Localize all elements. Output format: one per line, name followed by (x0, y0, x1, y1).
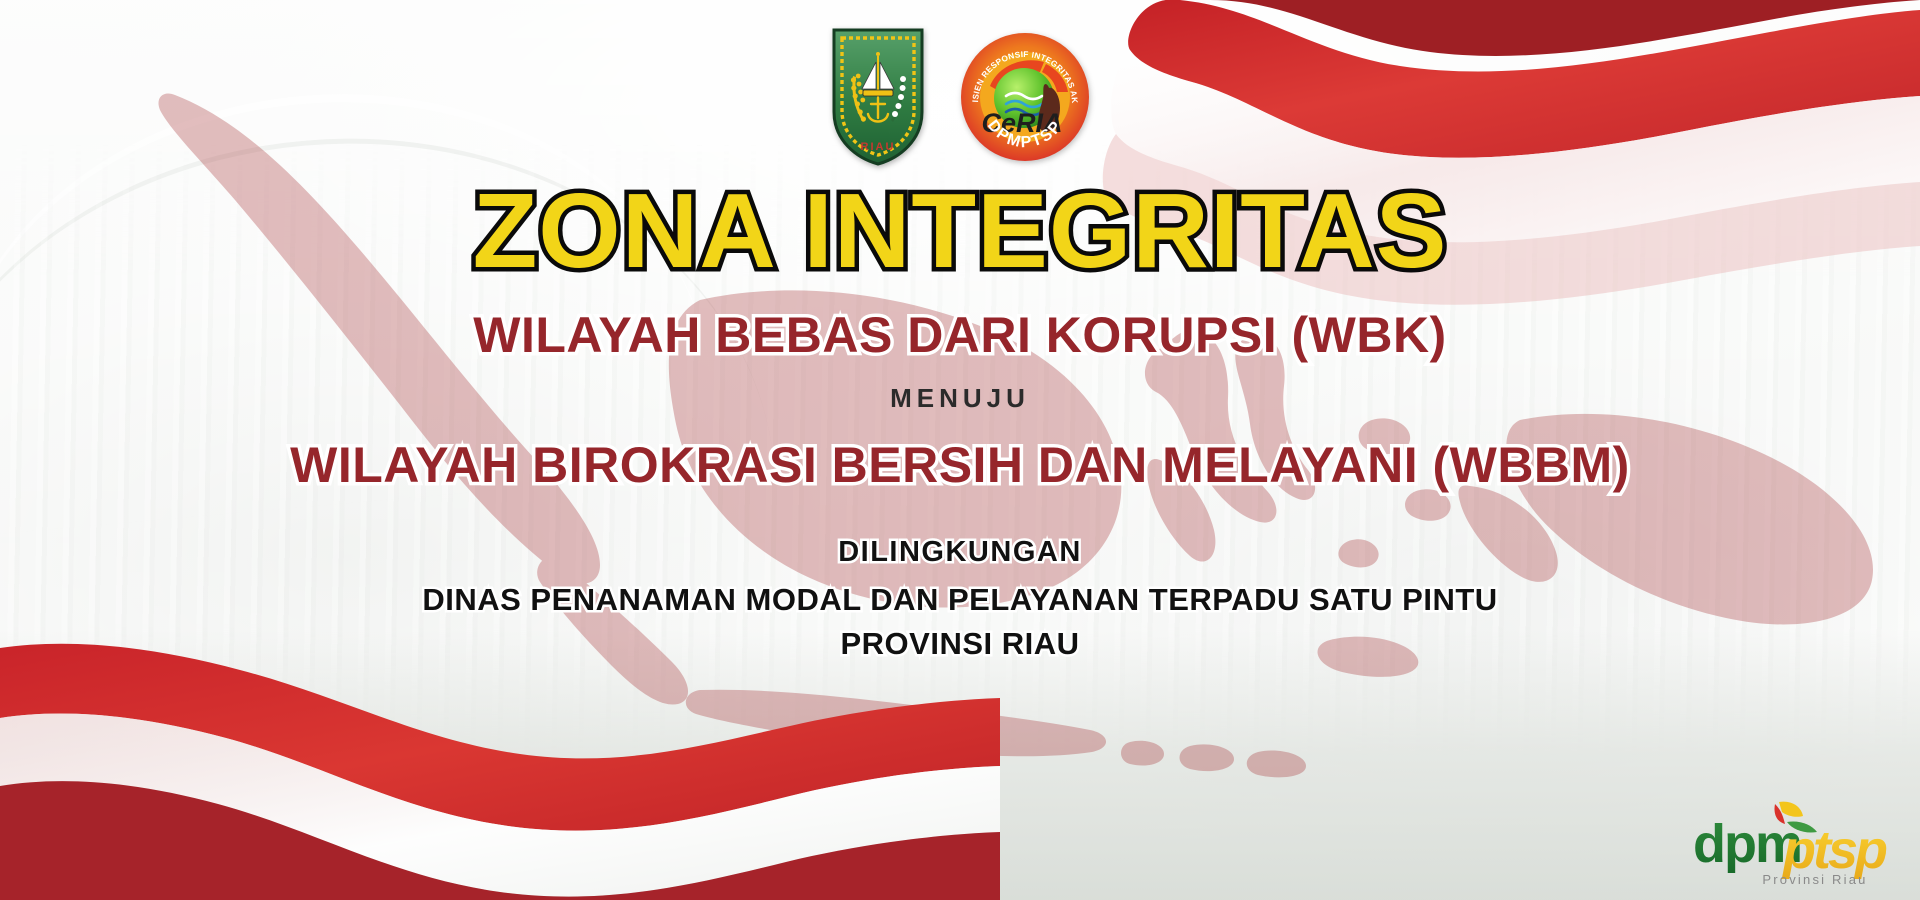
page-title: ZONA INTEGRITAS (0, 178, 1920, 284)
svg-text:Provinsi Riau: Provinsi Riau (1762, 872, 1867, 887)
organization-name-line1: DINAS PENANAMAN MODAL DAN PELAYANAN TERP… (0, 584, 1920, 615)
organization-name-line2: PROVINSI RIAU (0, 628, 1920, 659)
connector-label: MENUJU (0, 385, 1920, 411)
svg-text:RIAU: RIAU (861, 141, 896, 153)
riau-province-emblem-icon: RIAU (830, 26, 926, 168)
zona-integritas-banner: RIAU (0, 0, 1920, 900)
ceria-dpmptsp-emblem-icon: CeRIA CEPAT EFISIEN RESPONSIF INTEGRITAS… (960, 32, 1090, 162)
dpmptsp-wordmark-icon: dpm ptsp Provinsi Riau (1687, 794, 1902, 890)
subtitle-wbk: WILAYAH BEBAS DARI KORUPSI (WBK) (0, 310, 1920, 360)
logo-row: RIAU (0, 26, 1920, 168)
subtitle-wbbm: WILAYAH BIROKRASI BERSIH DAN MELAYANI (W… (0, 440, 1920, 490)
svg-text:ptsp: ptsp (1781, 820, 1887, 880)
scope-label: DILINGKUNGAN (0, 538, 1920, 567)
